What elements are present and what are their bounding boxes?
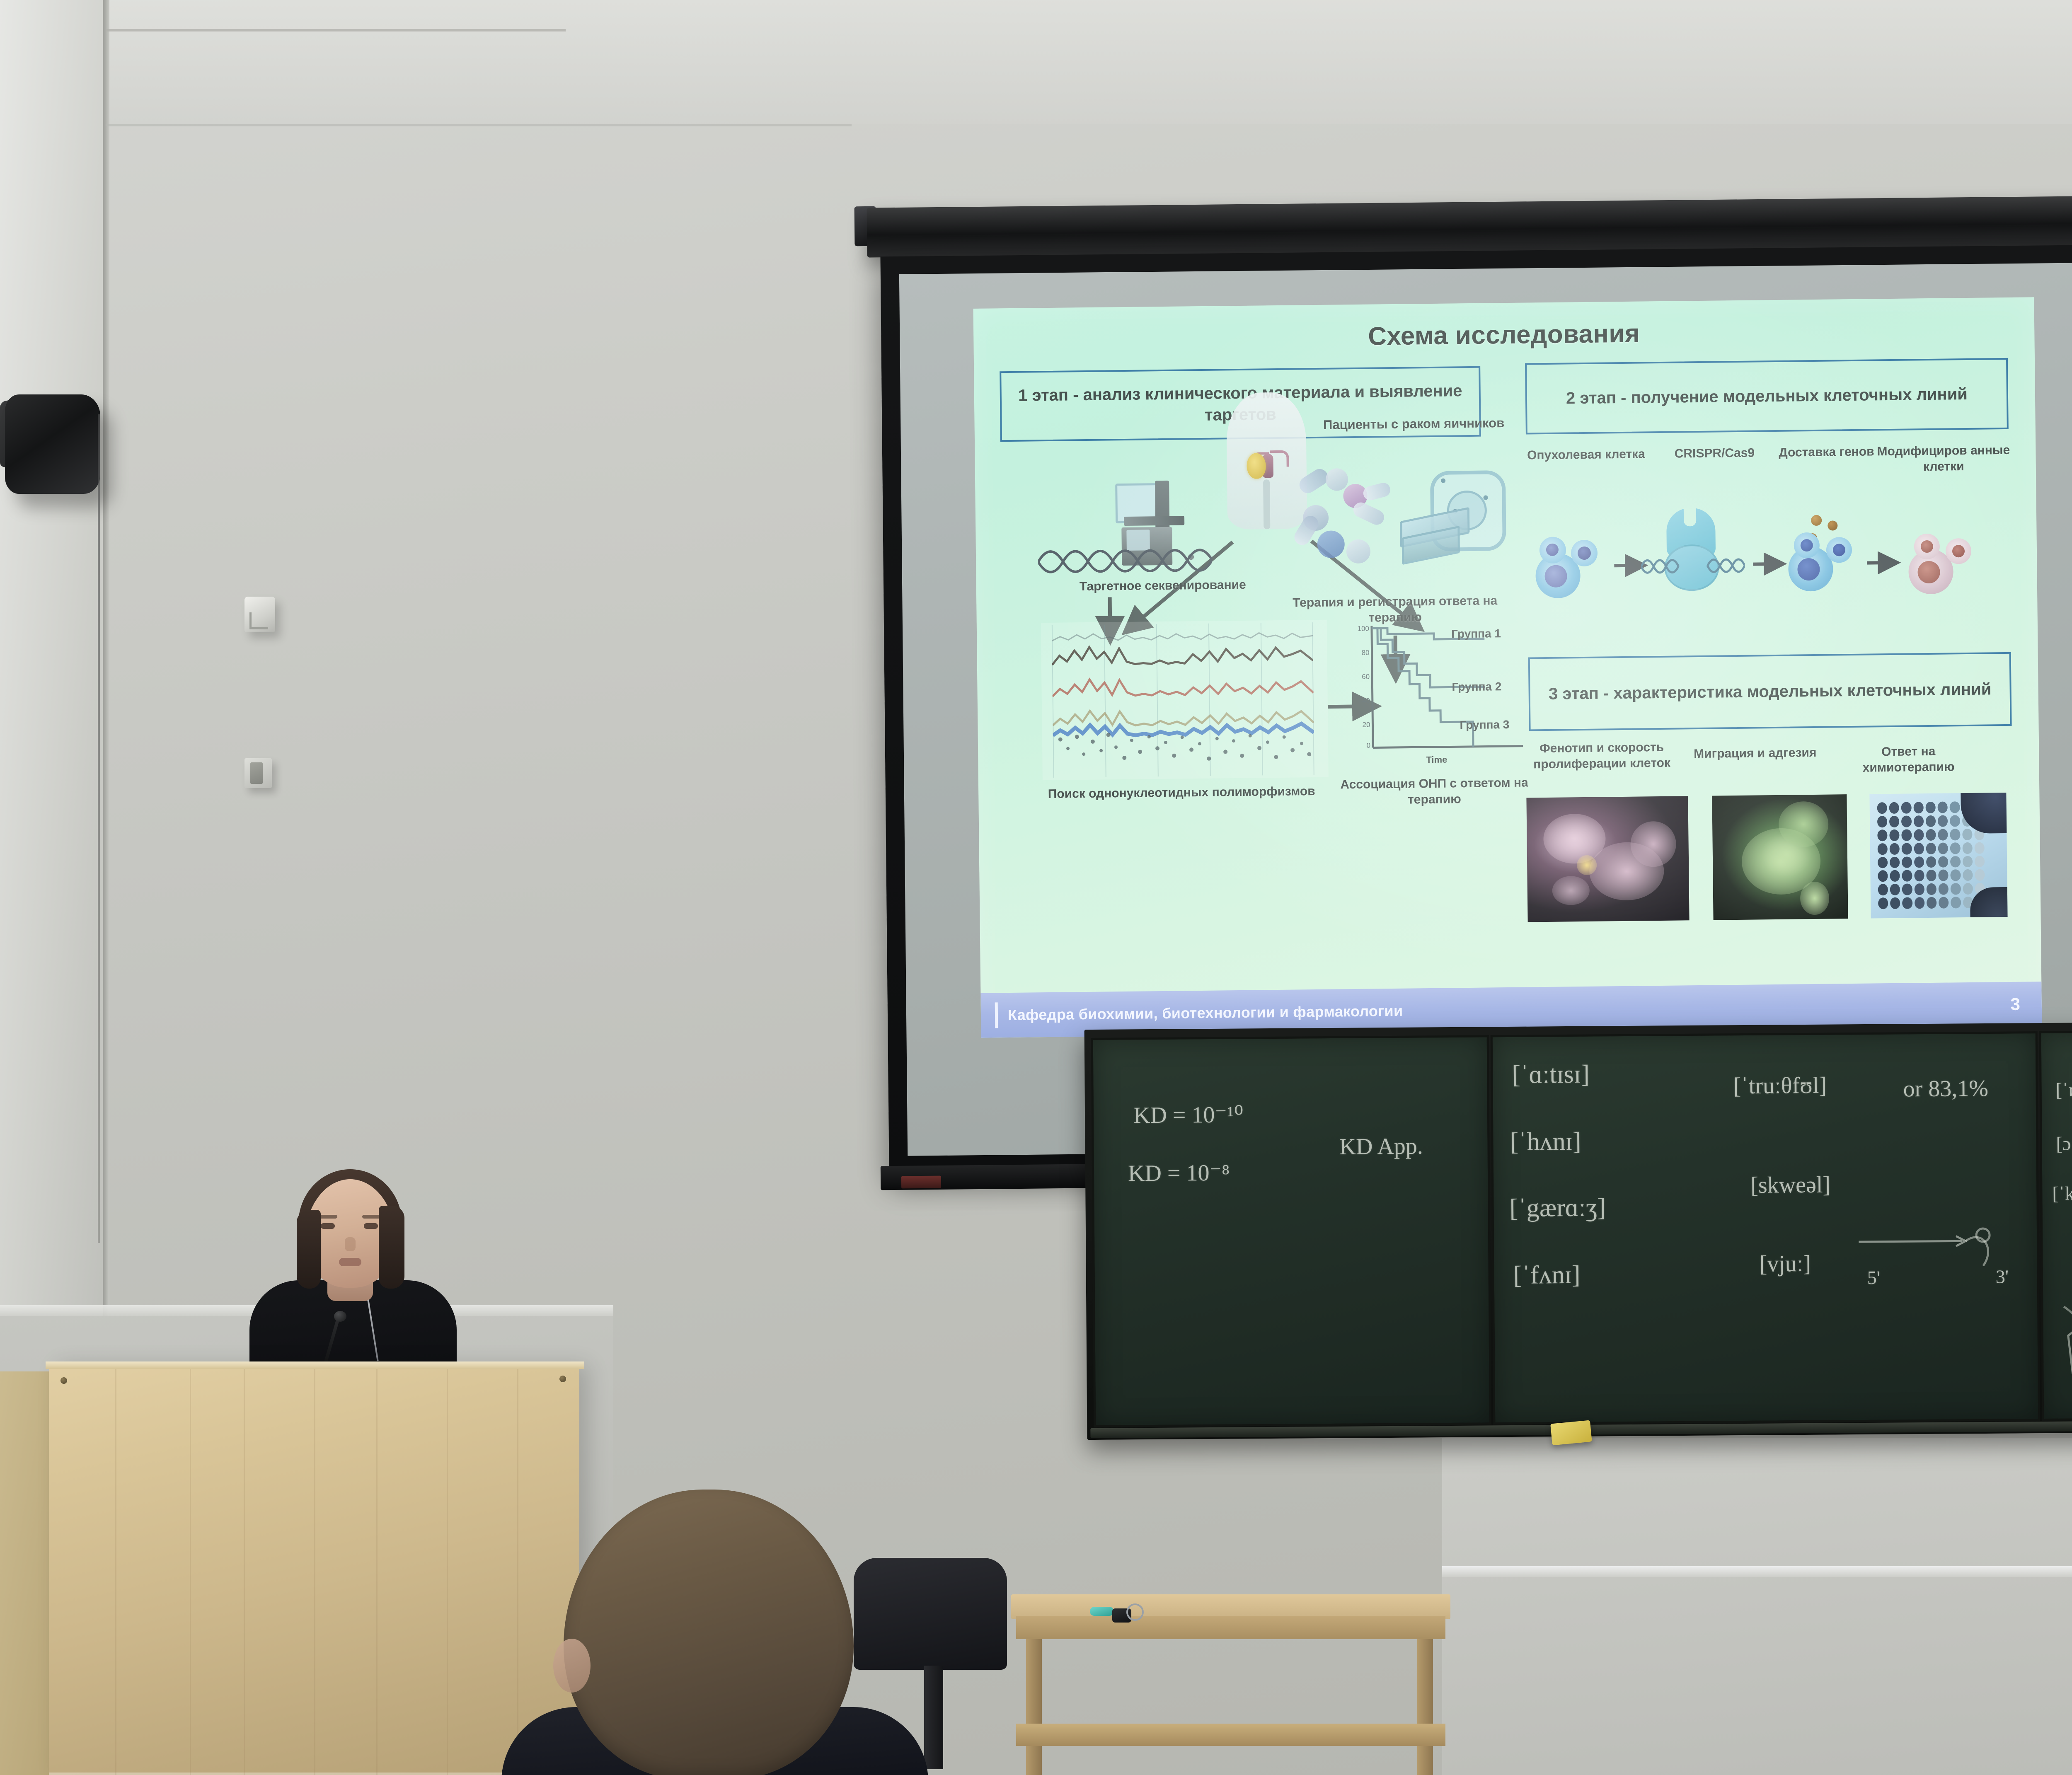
chalk-line-p3-1: [ˈɒlweɪz] [2055,1079,2072,1101]
series-label-group-1: Группа 1 [1451,627,1501,641]
podium [49,1365,579,1775]
arrow-s2-3 [1867,552,1900,573]
presentation-slide: Схема исследования 1 этап - анализ клини… [973,297,2042,1038]
svg-text:0: 0 [1366,742,1370,750]
chalkboard-panel-right: [ˈɒlweɪz] [ɔːlˈðəʊ] [ˈkɒstjuːm] [2039,1030,2072,1421]
sequencing-label: Таргетное секвенирование [1034,577,1291,595]
series-label-group-2: Группа 2 [1452,680,1501,694]
desk-body [1016,1616,1445,1639]
chalk-line-p2-3: [ˈgærɑːʒ] [1509,1193,1606,1223]
desk-leg-right [1417,1639,1433,1775]
chalkboard-sticky-note [1550,1420,1592,1446]
delivery-cell-nucleus [1797,558,1820,581]
gwas-scatter [1053,727,1314,779]
modified-cell-secondary-nucleus [1921,540,1933,553]
microphone-icon [334,1311,346,1322]
presenter-nose [345,1237,356,1251]
wall-seam-upper [106,29,566,31]
chalk-line-p1-1: KD = 10⁻¹⁰ [1133,1101,1244,1129]
mri-scanner-icon [1398,469,1503,569]
chalk-line-p2-2: [ˈhʌnɪ] [1510,1127,1581,1157]
presenter-hair-right [379,1206,404,1289]
stage3-label-3: Ответ на химиотерапию [1838,743,1979,776]
stage3-label-2: Миграция и адгезия [1691,745,1819,762]
stage-3-label: 3 этап - характеристика модельных клеточ… [1549,678,1992,705]
gene-delivery-icon [1788,515,1867,598]
screen-pull-tab[interactable] [901,1176,941,1189]
survival-curve-chart: 1008060 40200 Группа 1 Группа 2 Группа 3… [1348,621,1544,773]
desk-top[interactable] [1011,1594,1450,1619]
modified-cell-tertiary-nucleus [1952,545,1965,557]
podium-screw-right [559,1376,566,1382]
desk-leg-left [1026,1639,1042,1775]
svg-text:80: 80 [1362,649,1370,657]
stage-2-box: 2 этап - получение модельных клеточных л… [1525,358,2009,435]
presenter-mouth [339,1258,361,1266]
tumor-cell-icon [1535,534,1615,601]
pill-icon-4 [1317,530,1345,558]
tumor-cell-tertiary-nucleus [1578,547,1591,560]
delivery-cell-tertiary-nucleus [1833,544,1845,556]
wall-fixture-lower [244,758,272,788]
capsule-icon-2 [1351,500,1387,527]
presenter [257,1160,443,1392]
modified-cell-icon [1908,530,1987,601]
wall-speaker-icon [5,394,100,494]
chalk-line-p2-4: [ˈfʌnɪ] [1513,1260,1580,1290]
crispr-cas9-icon [1641,508,1745,592]
chalk-line-p3-2: [ɔːlˈðəʊ] [2056,1132,2072,1155]
stage-3-box: 3 этап - характеристика модельных клеточ… [1528,652,2012,731]
mri-indicator-1 [1441,479,1445,483]
svg-text:100: 100 [1357,625,1369,633]
pill-icon-1 [1326,468,1348,491]
wall-lower-rail [1442,1566,2072,1577]
tumor-cell-secondary-nucleus [1546,544,1559,556]
micrograph-phenotype [1526,796,1689,922]
lecture-hall-scene: Схема исследования 1 этап - анализ клини… [0,0,2072,1775]
presenter-eye-left [321,1223,335,1229]
chalk-line-p2-6: [skweəl] [1750,1172,1830,1199]
mri-indicator-2 [1484,495,1488,500]
series-label-group-3: Группа 3 [1460,718,1509,732]
audience-member-ear [553,1639,591,1693]
audience-member-head [564,1490,854,1775]
modified-cell-nucleus [1917,561,1940,584]
chalk-line-p2-7: [vjuː] [1759,1250,1811,1277]
svg-text:60: 60 [1362,673,1370,681]
wall-lower-right [1442,1438,2072,1775]
stage2-label-4: Модифициров анные клетки [1876,443,2011,476]
stage2-label-2: CRISPR/Cas9 [1654,445,1774,462]
presenter-eye-right [364,1223,378,1229]
chalkboard-panel-left: KD = 10⁻¹⁰ KD = 10⁻⁸ KD App. [1091,1035,1492,1427]
stage2-label-3: Доставка генов [1774,444,1878,461]
arrow-s2-2 [1753,554,1786,575]
micrograph-migration [1712,794,1848,920]
dna-strand-icon [1641,556,1745,576]
key-ring [1126,1603,1144,1621]
footer-accent-tick [995,1002,998,1028]
micrograph-chemotherapy-plate [1869,793,2007,919]
svg-text:40: 40 [1362,697,1370,705]
presenter-brow-left [319,1215,337,1219]
tumor-cell-nucleus [1544,565,1567,588]
wall-left-panel [0,0,105,1330]
ovarian-tumor-icon [1247,453,1266,479]
gene-particle-1 [1811,515,1822,526]
delivery-cell-secondary-nucleus [1801,539,1813,551]
footer-department-label: Кафедра биохимии, биотехнологии и фармак… [1008,1002,1403,1024]
x-axis-label: Time [1426,754,1447,766]
wall-seam-lower [106,124,852,126]
slide-title: Схема исследования [973,314,2035,355]
sequencer-bar [1124,516,1184,526]
chalk-sketch-doodle [2060,1289,2072,1398]
wall-fixture-upper [244,597,275,632]
chalk-line-p2-1: [ˈɑːtɪsɪ] [1512,1060,1590,1090]
speaker-cable [98,414,100,1243]
presenter-hair-left [297,1210,321,1289]
desk-front-panel [1016,1724,1445,1746]
wall-upper-band [0,0,2072,124]
presenter-brow-right [362,1215,380,1219]
chalk-line-p2-8: or 83,1% [1903,1075,1988,1102]
podium-side-panel [0,1371,50,1775]
stage2-label-1: Опухолевая клетка [1524,446,1648,464]
chair[interactable] [854,1558,1007,1670]
chalkboard-panel-center: [ˈɑːtɪsɪ] [ˈhʌnɪ] [ˈgærɑːʒ] [ˈfʌnɪ] [ˈtr… [1491,1031,2041,1424]
dna-helix-icon [1038,547,1213,576]
wall-left-column-edge [103,0,109,1330]
uterus-icon [1249,445,1289,481]
gwas-manhattan-plot [1041,620,1329,780]
keys-on-desk[interactable] [1090,1603,1140,1624]
cas9-notch [1684,508,1696,526]
patients-label: Пациенты с раком яичников [1302,414,1525,433]
chalk-line-p2-5: [ˈtruːθfʊl] [1733,1072,1827,1100]
capsule-icon-4 [1362,481,1392,502]
chalk-line-p1-3: KD App. [1339,1133,1423,1160]
pill-icon-5 [1346,539,1371,564]
snp-search-label: Поиск однонуклеотидных полиморфизмов [1018,783,1345,803]
podium-top-edge [46,1361,584,1369]
svg-text:20: 20 [1362,721,1370,729]
chalk-arrow-doodle [1859,1199,2025,1283]
stage3-label-1: Фенотип и скорость пролиферации клеток [1527,740,1677,773]
association-label: Ассоциация ОНП с ответом на терапию [1318,775,1551,809]
pelvis-leg-gap [1263,479,1270,529]
chalk-line-p1-2: KD = 10⁻⁸ [1128,1159,1230,1187]
stage-2-label: 2 этап - получение модельных клеточных л… [1566,383,1968,409]
chalk-line-p3-3: [ˈkɒstjuːm] [2052,1182,2072,1204]
gene-particle-2 [1828,520,1837,530]
chair-leg [924,1666,943,1769]
key-tag [1090,1607,1114,1616]
podium-screw-left [61,1377,67,1384]
medication-icons [1290,468,1395,573]
slide-number: 3 [2010,994,2020,1014]
chalkboard: KD = 10⁻¹⁰ KD = 10⁻⁸ KD App. [ˈɑːtɪsɪ] [… [1084,1021,2072,1440]
